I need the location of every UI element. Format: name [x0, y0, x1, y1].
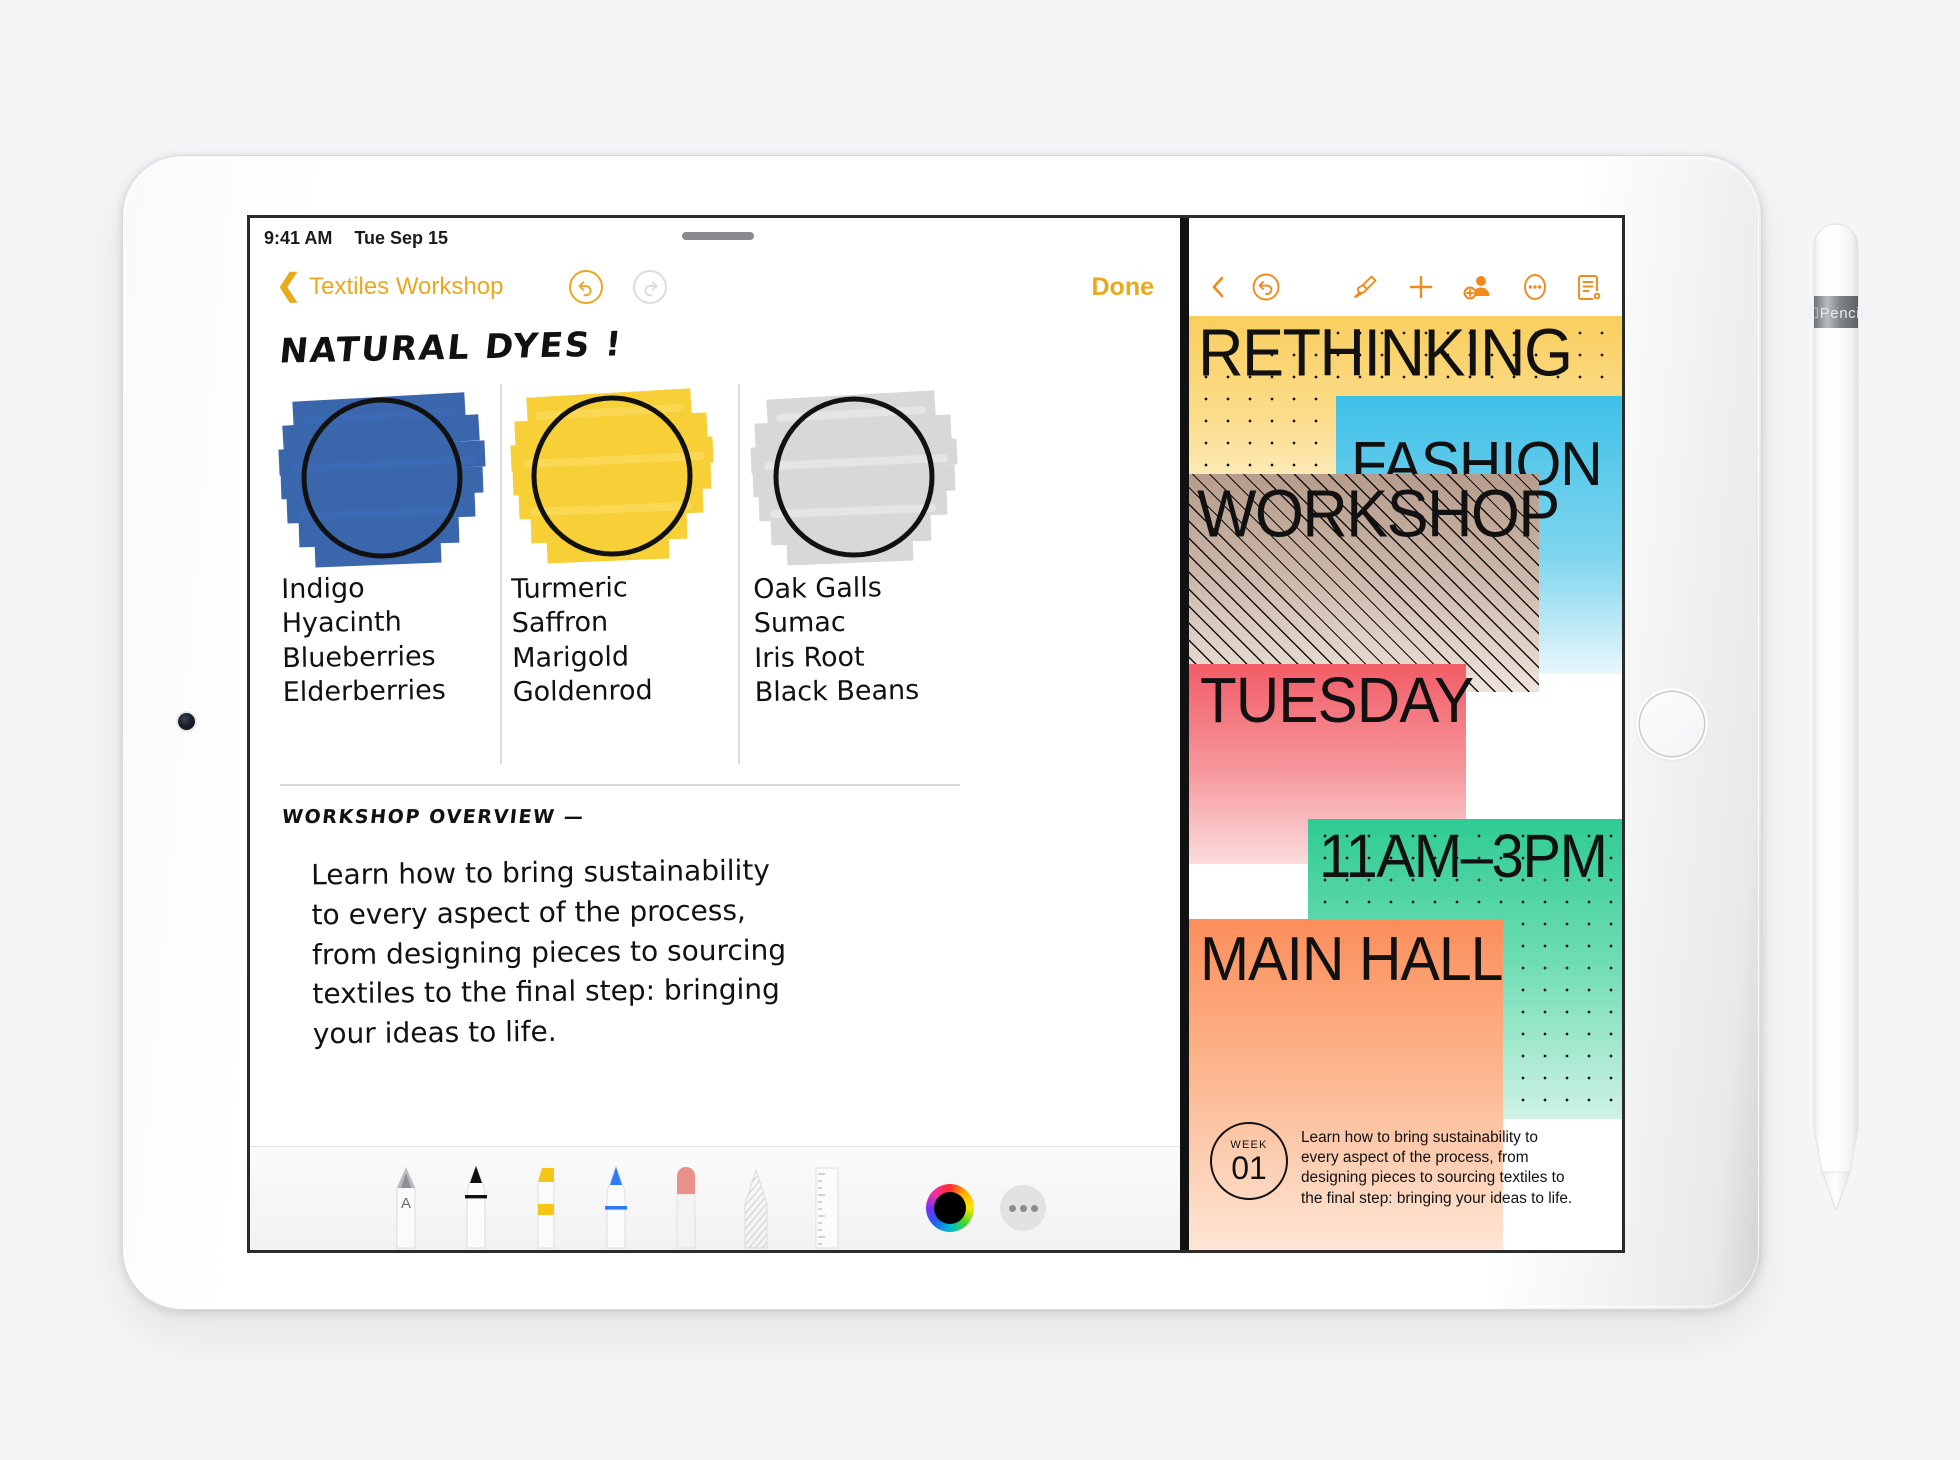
chevron-left-icon	[1207, 273, 1229, 301]
plus-icon	[1406, 272, 1436, 302]
dye-column: Indigo Hyacinth Blueberries Elderberries	[280, 384, 498, 764]
description-line: Learn how to bring sustainability to	[1301, 1128, 1601, 1148]
add-person-icon	[1462, 272, 1494, 302]
dye-item: Black Beans	[754, 674, 919, 711]
paintbrush-icon	[1350, 272, 1380, 302]
overview-line: from designing pieces to sourcing	[312, 928, 952, 974]
keynote-more-button[interactable]	[1520, 272, 1550, 302]
palette-more-ellipsis-icon[interactable]	[1000, 1185, 1046, 1231]
dye-item: Iris Root	[754, 639, 919, 676]
week-badge-number: 01	[1231, 1152, 1267, 1184]
oak-galls-dye-list: Oak Galls Sumac Iris Root Black Beans	[753, 571, 919, 710]
more-ellipsis-icon	[1520, 272, 1550, 302]
overview-divider	[280, 784, 960, 786]
overview-line: Learn how to bring sustainability	[311, 849, 951, 895]
notes-app-pane: 9:41 AM Tue Sep 15 ❮ Textiles Workshop	[250, 218, 1180, 1250]
pen-tool[interactable]	[454, 1164, 498, 1250]
dye-column: Oak Galls Sumac Iris Root Black Beans	[752, 384, 970, 764]
workshop-label: WORKSHOP	[1197, 476, 1559, 552]
column-divider	[738, 384, 740, 764]
overview-line: textiles to the final step: bringing	[312, 968, 952, 1014]
time-label: 11AM–3PM	[1319, 821, 1607, 892]
markup-tool-palette: A	[250, 1146, 1180, 1250]
chevron-left-icon: ❮	[276, 271, 301, 301]
turmeric-swatch	[510, 384, 720, 569]
undo-icon	[1251, 272, 1281, 302]
note-title: NATURAL DYES !	[278, 324, 625, 371]
overview-body: Learn how to bring sustainability to eve…	[311, 849, 953, 1054]
notes-back-label: Textiles Workshop	[309, 273, 503, 301]
notes-back-button[interactable]: ❮ Textiles Workshop	[276, 273, 503, 301]
notes-multitask-grabber-icon[interactable]	[682, 232, 754, 240]
lasso-tool[interactable]	[734, 1164, 778, 1250]
rethinking-label: RETHINKING	[1198, 316, 1572, 391]
color-wheel-icon[interactable]	[926, 1184, 974, 1232]
pencil-tool[interactable]	[594, 1164, 638, 1250]
description-line: every aspect of the process, from	[1301, 1148, 1601, 1168]
dye-item: Hyacinth	[282, 605, 446, 642]
tuesday-label: TUESDAY	[1200, 664, 1473, 737]
column-divider	[500, 384, 502, 764]
overview-line: your ideas to life.	[313, 1008, 953, 1054]
keynote-format-button[interactable]	[1350, 272, 1380, 302]
keynote-toolbar	[1189, 258, 1622, 316]
ruler-tool[interactable]	[804, 1164, 848, 1250]
notes-toolbar: ❮ Textiles Workshop Done	[250, 258, 1180, 316]
apple-pencil: Pencil	[1806, 210, 1866, 1260]
front-camera-icon	[178, 713, 195, 730]
dye-item: Sumac	[754, 605, 919, 642]
keynote-app-pane: 100%	[1189, 218, 1622, 1250]
dye-item: Marigold	[512, 640, 652, 676]
dye-item: Turmeric	[511, 571, 651, 607]
document-icon	[1576, 272, 1604, 302]
overview-label: WORKSHOP OVERVIEW —	[281, 806, 586, 828]
undo-icon	[575, 276, 597, 298]
scribble-pen-tool[interactable]: A	[384, 1164, 428, 1250]
indigo-swatch	[280, 384, 490, 569]
eraser-tool[interactable]	[664, 1164, 708, 1250]
keynote-slide[interactable]: RETHINKING FASHION WORKSHOP TUESDAY	[1189, 316, 1622, 1250]
workshop-block[interactable]: WORKSHOP	[1189, 474, 1539, 692]
status-bar-date: Tue Sep 15	[354, 228, 448, 249]
week-badge: WEEK 01	[1210, 1122, 1288, 1200]
notes-undo-button[interactable]	[569, 270, 603, 304]
split-view-divider[interactable]	[1180, 218, 1189, 1250]
description-line: the final step: bringing your ideas to l…	[1301, 1189, 1601, 1209]
status-bar-time: 9:41 AM	[264, 228, 332, 249]
venue-label: MAIN HALL	[1200, 923, 1502, 995]
notes-canvas[interactable]: NATURAL DYES !	[250, 316, 1180, 1146]
redo-icon	[639, 276, 661, 298]
dye-item: Goldenrod	[512, 674, 652, 710]
overview-line: to every aspect of the process,	[311, 888, 951, 934]
svg-text:A: A	[401, 1195, 411, 1212]
keynote-back-button[interactable]	[1207, 273, 1229, 301]
slide-description: Learn how to bring sustainability to eve…	[1301, 1128, 1601, 1209]
dye-item: Elderberries	[282, 674, 446, 711]
home-button-icon[interactable]	[1636, 688, 1708, 760]
notes-done-button[interactable]: Done	[1092, 273, 1155, 302]
screenshot-stage: 9:41 AM Tue Sep 15 ❮ Textiles Workshop	[0, 0, 1960, 1460]
dye-item: Blueberries	[282, 639, 446, 676]
notes-redo-button[interactable]	[633, 270, 667, 304]
indigo-dye-list: Indigo Hyacinth Blueberries Elderberries	[281, 571, 446, 710]
turmeric-dye-list: Turmeric Saffron Marigold Goldenrod	[511, 571, 653, 710]
dye-item: Oak Galls	[753, 571, 918, 608]
ipad-screen: 9:41 AM Tue Sep 15 ❮ Textiles Workshop	[250, 218, 1622, 1250]
keynote-collaborate-button[interactable]	[1462, 272, 1494, 302]
dye-item: Saffron	[512, 605, 652, 641]
description-line: designing pieces to sourcing textiles to	[1301, 1168, 1601, 1188]
dye-column: Turmeric Saffron Marigold Goldenrod	[510, 384, 728, 764]
week-badge-label: WEEK	[1230, 1139, 1267, 1151]
dye-item: Indigo	[281, 571, 445, 608]
pencil-engraving: Pencil	[1808, 305, 1864, 322]
keynote-document-options-button[interactable]	[1576, 272, 1604, 302]
dye-swatch-row: Indigo Hyacinth Blueberries Elderberries	[272, 384, 1162, 764]
keynote-undo-button[interactable]	[1251, 272, 1281, 302]
oak-galls-swatch	[752, 384, 962, 569]
highlighter-tool[interactable]	[524, 1164, 568, 1250]
keynote-insert-button[interactable]	[1406, 272, 1436, 302]
